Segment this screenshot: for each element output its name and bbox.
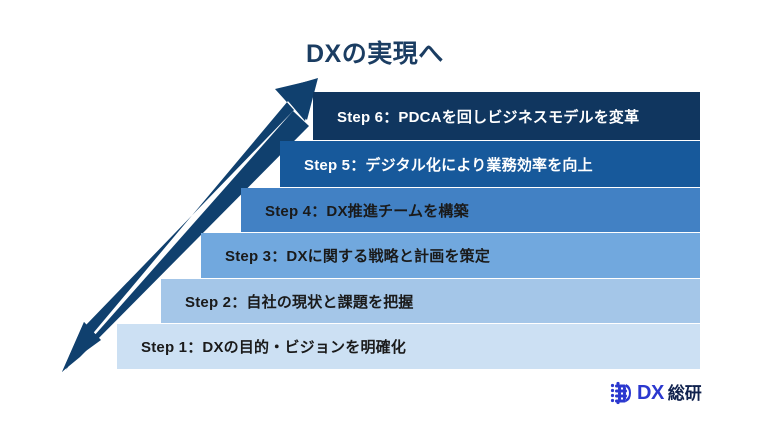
step-bar-5[interactable]: Step 5：デジタル化により業務効率を向上 (280, 141, 700, 187)
step-bar-3[interactable]: Step 3：DXに関する戦略と計画を策定 (201, 233, 700, 278)
brand-logo: DX 総研 (608, 381, 702, 405)
step-label-5: Step 5：デジタル化により業務効率を向上 (280, 154, 593, 175)
step-bar-1[interactable]: Step 1：DXの目的・ビジョンを明確化 (117, 324, 700, 369)
step-label-6: Step 6：PDCAを回しビジネスモデルを変革 (313, 106, 639, 127)
brain-gear-icon (608, 381, 634, 405)
step-bar-4[interactable]: Step 4：DX推進チームを構築 (241, 188, 700, 232)
logo-dx-text: DX (637, 383, 664, 403)
logo-suffix-text: 総研 (668, 385, 702, 402)
step-label-2: Step 2：自社の現状と課題を把握 (161, 291, 414, 312)
step-bar-6[interactable]: Step 6：PDCAを回しビジネスモデルを変革 (313, 92, 700, 140)
step-bar-2[interactable]: Step 2：自社の現状と課題を把握 (161, 279, 700, 323)
step-label-4: Step 4：DX推進チームを構築 (241, 200, 469, 221)
page-title: DXの実現へ (306, 34, 444, 70)
step-label-3: Step 3：DXに関する戦略と計画を策定 (201, 245, 490, 266)
step-label-1: Step 1：DXの目的・ビジョンを明確化 (117, 336, 406, 357)
slide-canvas: DXの実現へ Step 6：PDCAを回しビジネスモデルを変革 Step 5：デ… (0, 0, 768, 428)
